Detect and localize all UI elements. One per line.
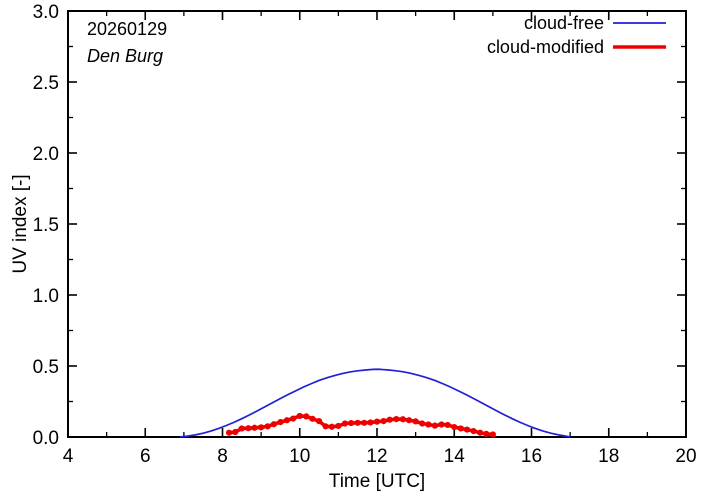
data-point xyxy=(425,421,431,427)
data-point xyxy=(393,416,399,422)
x-tick-label: 20 xyxy=(675,446,696,467)
data-point xyxy=(419,420,425,426)
data-point xyxy=(297,413,303,419)
data-point xyxy=(290,415,296,421)
axis-tick-marks xyxy=(68,11,686,437)
data-point xyxy=(258,424,264,430)
x-tick-label: 12 xyxy=(366,446,387,467)
chart-legend: cloud-free cloud-modified xyxy=(487,13,666,57)
data-point xyxy=(413,418,419,424)
data-point xyxy=(303,413,309,419)
data-point xyxy=(445,422,451,428)
data-point xyxy=(400,416,406,422)
y-axis-title: UV index [-] xyxy=(10,174,31,273)
x-tick-label: 6 xyxy=(140,446,151,467)
series-line xyxy=(180,369,570,437)
data-point xyxy=(367,419,373,425)
data-point xyxy=(451,424,457,430)
legend-item-cloud-free-label: cloud-free xyxy=(524,13,604,33)
data-point xyxy=(232,429,238,435)
legend-item-cloud-modified-label: cloud-modified xyxy=(487,37,604,57)
data-point xyxy=(226,430,232,436)
x-tick-label: 4 xyxy=(63,446,74,467)
data-point xyxy=(355,420,361,426)
y-axis-tick-labels: 0.00.51.01.52.02.53.0 xyxy=(33,2,59,449)
data-point xyxy=(458,425,464,431)
x-tick-label: 14 xyxy=(444,446,466,467)
data-point xyxy=(329,424,335,430)
data-point xyxy=(387,417,393,423)
y-tick-label: 2.0 xyxy=(33,144,59,165)
data-point xyxy=(309,416,315,422)
data-point xyxy=(483,431,489,437)
data-point xyxy=(335,423,341,429)
data-point xyxy=(284,417,290,423)
data-point xyxy=(271,421,277,427)
chart-canvas: 0.00.51.01.52.02.53.0 468101214161820 UV… xyxy=(0,0,702,497)
data-point xyxy=(277,419,283,425)
x-tick-label: 18 xyxy=(598,446,619,467)
data-point xyxy=(251,425,257,431)
data-point xyxy=(406,417,412,423)
data-point xyxy=(477,430,483,436)
data-point xyxy=(470,428,476,434)
plot-border xyxy=(68,11,686,437)
y-tick-label: 1.0 xyxy=(33,286,59,307)
data-point xyxy=(342,420,348,426)
data-series-layer xyxy=(180,369,570,437)
x-axis-tick-labels: 468101214161820 xyxy=(63,446,697,467)
series-cloud-modified xyxy=(226,413,496,438)
y-tick-label: 3.0 xyxy=(33,2,59,23)
data-point xyxy=(348,420,354,426)
y-tick-label: 0.0 xyxy=(33,428,59,449)
data-point xyxy=(316,418,322,424)
data-point xyxy=(245,425,251,431)
x-axis-title: Time [UTC] xyxy=(329,471,425,492)
x-tick-label: 10 xyxy=(289,446,310,467)
data-point xyxy=(323,423,329,429)
y-tick-label: 0.5 xyxy=(33,357,59,378)
data-point xyxy=(438,421,444,427)
y-tick-label: 1.5 xyxy=(33,215,59,236)
data-point xyxy=(361,420,367,426)
data-point xyxy=(265,423,271,429)
series-cloud-free xyxy=(180,369,570,437)
y-tick-label: 2.5 xyxy=(33,73,59,94)
annotation-date: 20260129 xyxy=(87,19,167,39)
x-tick-label: 16 xyxy=(521,446,542,467)
uv-index-chart: 0.00.51.01.52.02.53.0 468101214161820 UV… xyxy=(0,0,702,497)
data-point xyxy=(490,431,496,437)
data-point xyxy=(380,418,386,424)
annotation-site: Den Burg xyxy=(87,46,163,66)
data-point xyxy=(374,419,380,425)
x-tick-label: 8 xyxy=(217,446,228,467)
data-point xyxy=(239,425,245,431)
data-point xyxy=(432,423,438,429)
data-point xyxy=(464,427,470,433)
